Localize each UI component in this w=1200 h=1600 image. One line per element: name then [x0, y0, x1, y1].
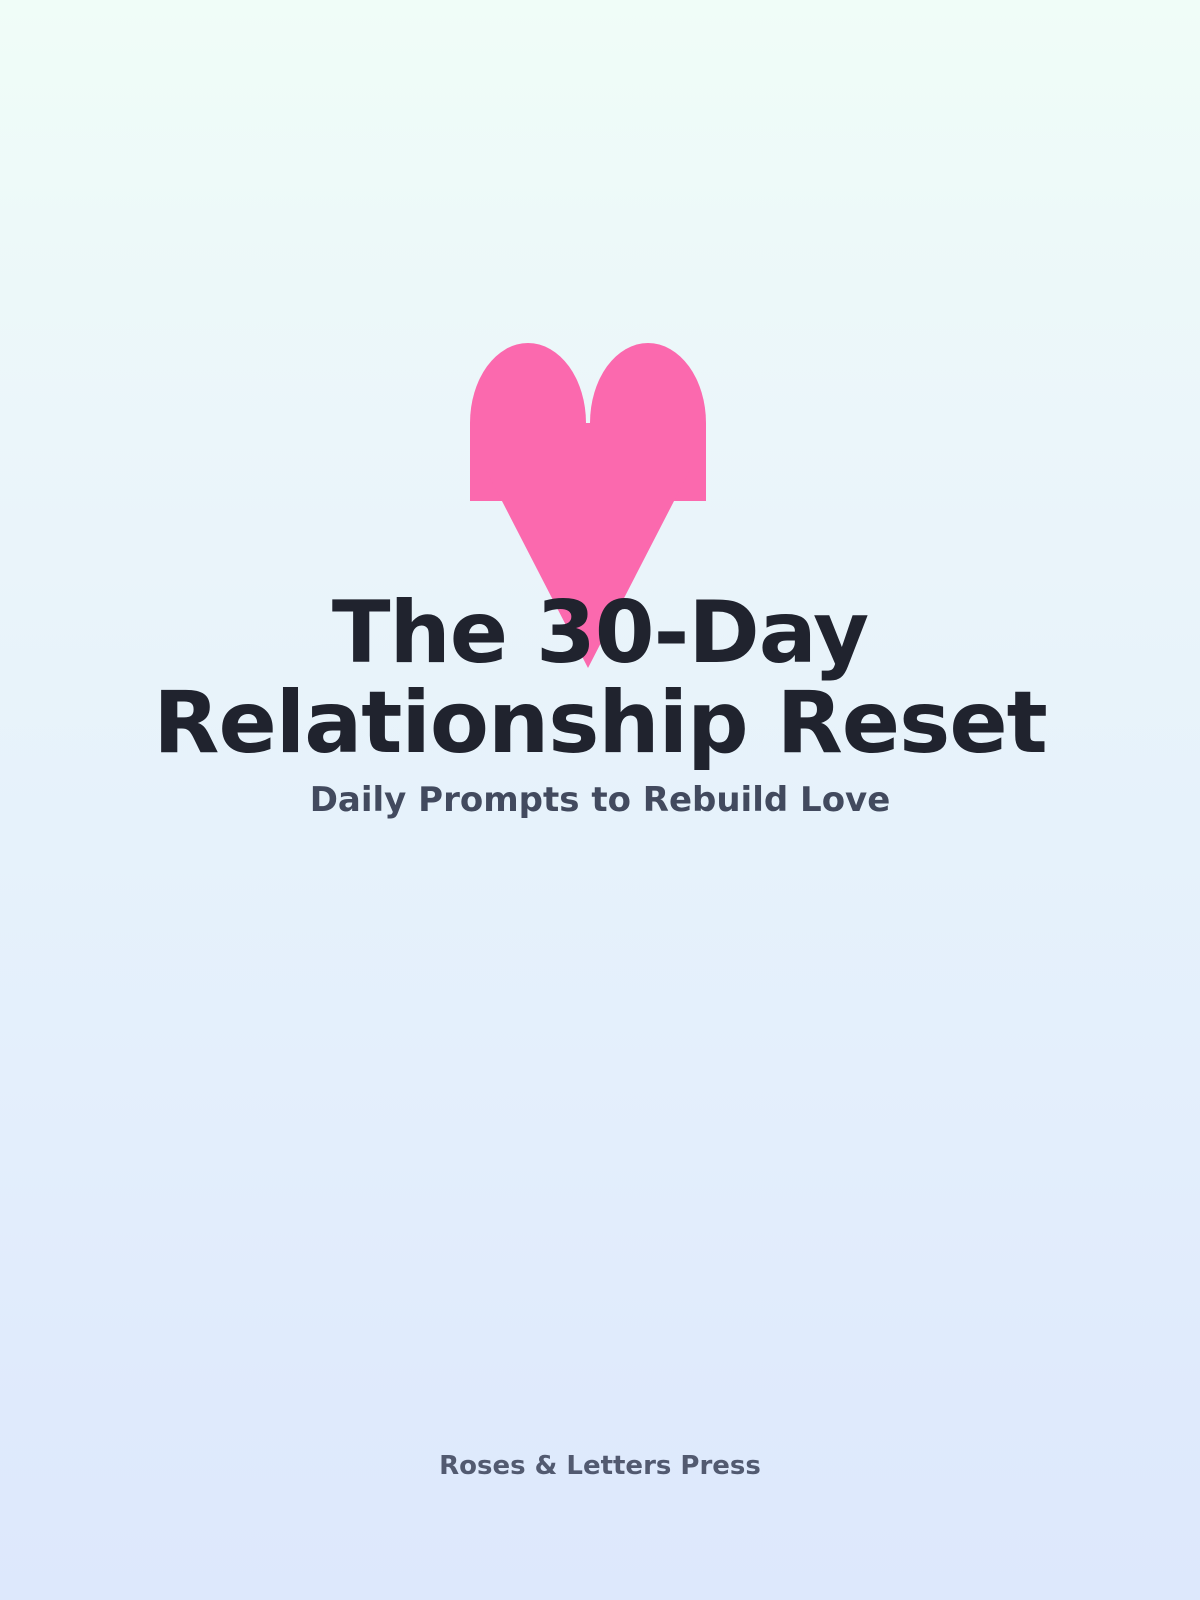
cover-text-block: The 30-Day Relationship Reset Daily Prom…: [0, 0, 1200, 1600]
cover-subtitle: Daily Prompts to Rebuild Love: [100, 778, 1100, 822]
page-title: The 30-Day Relationship Reset: [100, 588, 1100, 768]
book-cover: The 30-Day Relationship Reset Daily Prom…: [0, 0, 1200, 1600]
publisher-imprint: Roses & Letters Press: [100, 1448, 1100, 1484]
